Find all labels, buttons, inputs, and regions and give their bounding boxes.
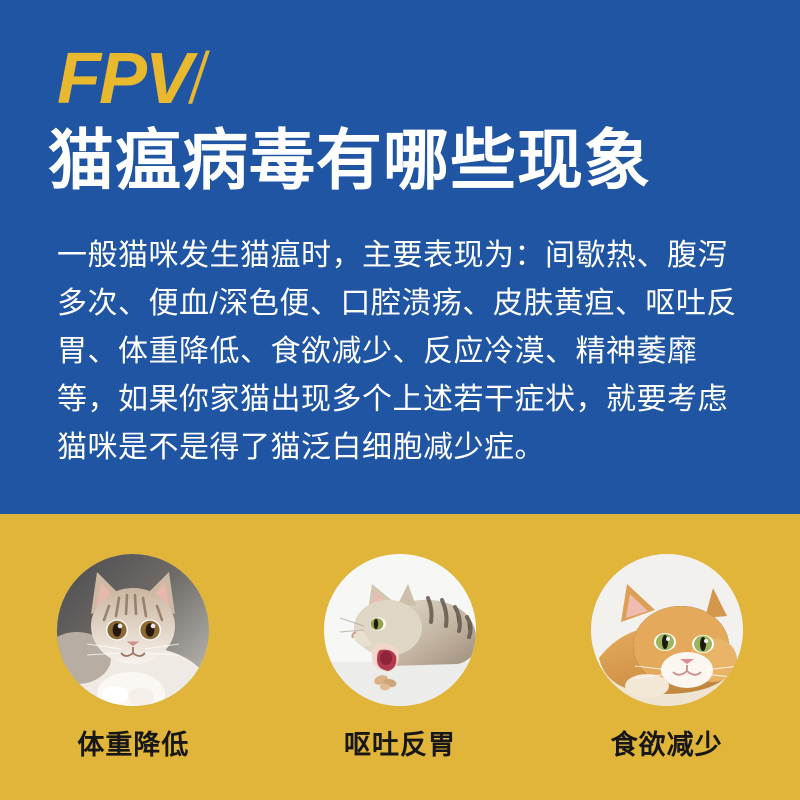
symptom-label: 食欲减少 <box>611 732 723 759</box>
vomiting-cat-photo <box>324 554 476 706</box>
poster-root: FPV/ 猫瘟病毒有哪些现象 一般猫咪发生猫瘟时，主要表现为：间歇热、腹泻多次、… <box>0 0 800 800</box>
fpv-brand-logo: FPV/ <box>57 43 211 115</box>
symptom-card: 食欲减少 <box>567 554 767 759</box>
symptom-card-list: 体重降低 <box>0 514 800 800</box>
body-paragraph: 一般猫咪发生猫瘟时，主要表现为：间歇热、腹泻多次、便血/深色便、口腔溃疡、皮肤黄… <box>57 232 747 472</box>
bottom-yellow-panel: 体重降低 <box>0 514 800 800</box>
page-title: 猫瘟病毒有哪些现象 <box>48 126 651 195</box>
lethargic-orange-cat-photo <box>591 554 743 706</box>
brand-text: FPV <box>57 39 191 119</box>
brand-slash-icon: / <box>191 43 205 115</box>
top-blue-panel: FPV/ 猫瘟病毒有哪些现象 一般猫咪发生猫瘟时，主要表现为：间歇热、腹泻多次、… <box>0 0 800 514</box>
symptom-card: 体重降低 <box>33 554 233 759</box>
symptom-card: 呕吐反胃 <box>300 554 500 759</box>
symptom-label: 体重降低 <box>77 732 189 759</box>
symptom-label: 呕吐反胃 <box>344 732 456 759</box>
thin-tabby-kitten-photo <box>57 554 209 706</box>
